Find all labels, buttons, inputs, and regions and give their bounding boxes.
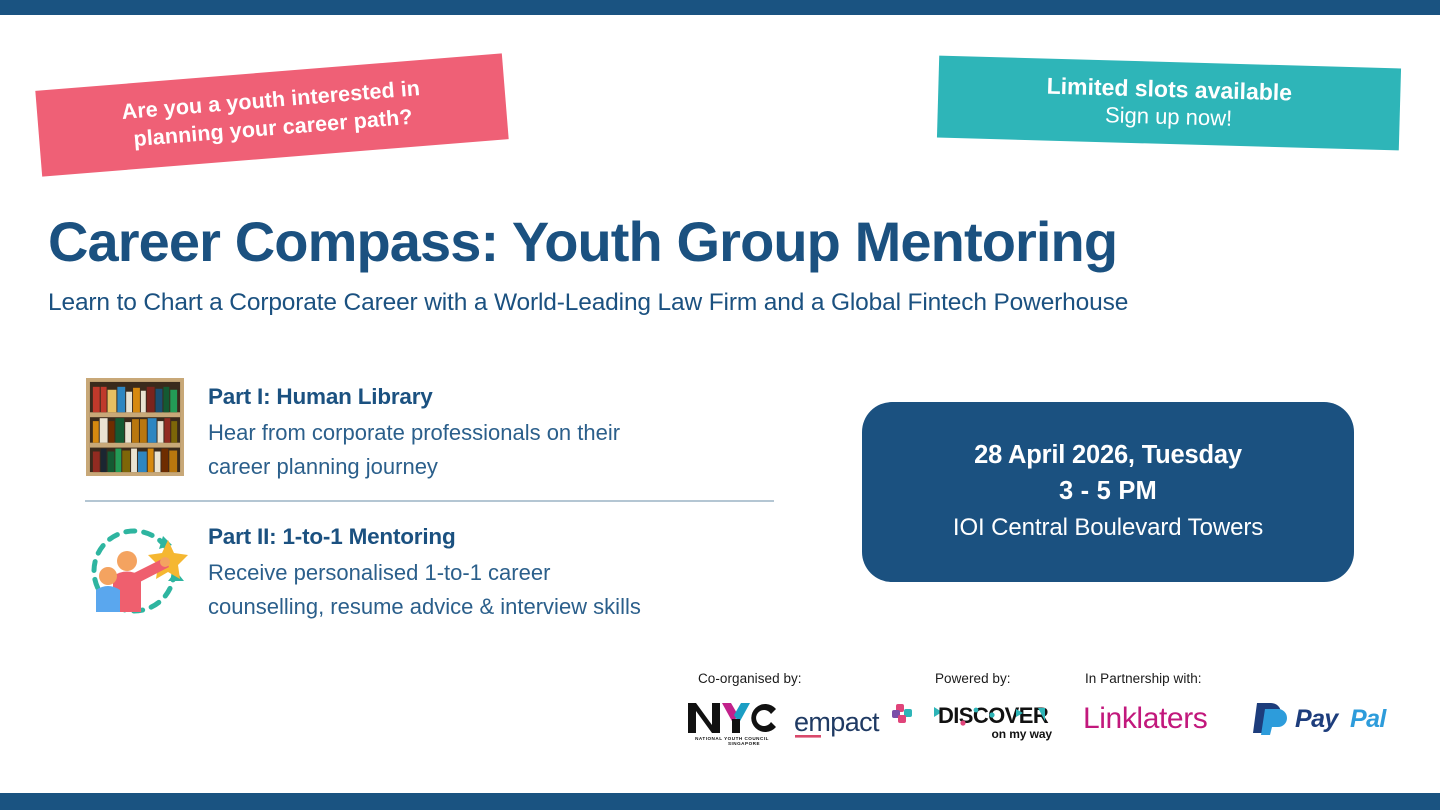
powered-group-label: Powered by: [935,671,1011,686]
nyc-logo: NATIONAL YOUTH COUNCIL SINGAPORE [686,699,778,745]
page-title: Career Compass: Youth Group Mentoring [48,212,1393,272]
part-two-line1: Receive personalised 1-to-1 career [208,556,641,590]
svg-text:SINGAPORE: SINGAPORE [728,741,760,745]
powered-by-label: Powered by: [935,671,1011,686]
question-ribbon: Are you a youth interested in planning y… [35,53,508,176]
signup-ribbon-line2: Sign up now! [1105,101,1233,132]
section-divider [85,500,774,502]
event-details-card: 28 April 2026, Tuesday 3 - 5 PM IOI Cent… [862,402,1354,582]
co-organised-logos: NATIONAL YOUTH COUNCIL SINGAPORE empact [686,699,912,745]
part-one-text: Part I: Human Library Hear from corporat… [208,378,620,484]
signup-ribbon: Limited slots available Sign up now! [937,56,1401,151]
paypal-logo: Pay Pal [1251,699,1403,737]
svg-text:Pay: Pay [1295,705,1339,733]
part-one-block: Part I: Human Library Hear from corporat… [86,378,620,484]
bottom-accent-bar [0,793,1440,810]
part-two-block: Part II: 1-to-1 Mentoring Receive person… [80,518,641,624]
linklaters-logo: Linklaters [1083,701,1241,735]
discover-logo: DISCOVER on my way [932,699,1054,743]
svg-text:on my way: on my way [992,727,1053,741]
part-two-text: Part II: 1-to-1 Mentoring Receive person… [208,518,641,624]
svg-text:Pal: Pal [1350,705,1387,733]
svg-text:Linklaters: Linklaters [1083,702,1207,735]
poster-canvas: Are you a youth interested in planning y… [0,0,1440,810]
empact-logo: empact [792,701,912,743]
partnership-group-label: In Partnership with: [1085,671,1202,686]
part-one-heading: Part I: Human Library [208,384,620,410]
top-accent-bar [0,0,1440,15]
part-two-heading: Part II: 1-to-1 Mentoring [208,524,641,550]
page-subtitle: Learn to Chart a Corporate Career with a… [48,288,1393,317]
svg-text:empact: empact [794,707,880,737]
part-two-line2: counselling, resume advice & interview s… [208,590,641,624]
part-one-line2: career planning journey [208,450,620,484]
part-one-line1: Hear from corporate professionals on the… [208,416,620,450]
event-venue: IOI Central Boulevard Towers [953,510,1263,546]
powered-by-logos: DISCOVER on my way [932,699,1054,743]
co-organised-label: Co-organised by: [698,671,802,686]
event-time: 3 - 5 PM [1059,473,1157,510]
mentoring-icon [80,514,190,624]
co-organised-group-label: Co-organised by: [698,671,802,686]
event-date: 28 April 2026, Tuesday [974,438,1242,472]
in-partnership-label: In Partnership with: [1085,671,1202,686]
partnership-logos: Linklaters Pay Pal [1083,699,1403,737]
signup-ribbon-line1: Limited slots available [1046,72,1292,107]
bookshelf-icon [86,378,184,476]
